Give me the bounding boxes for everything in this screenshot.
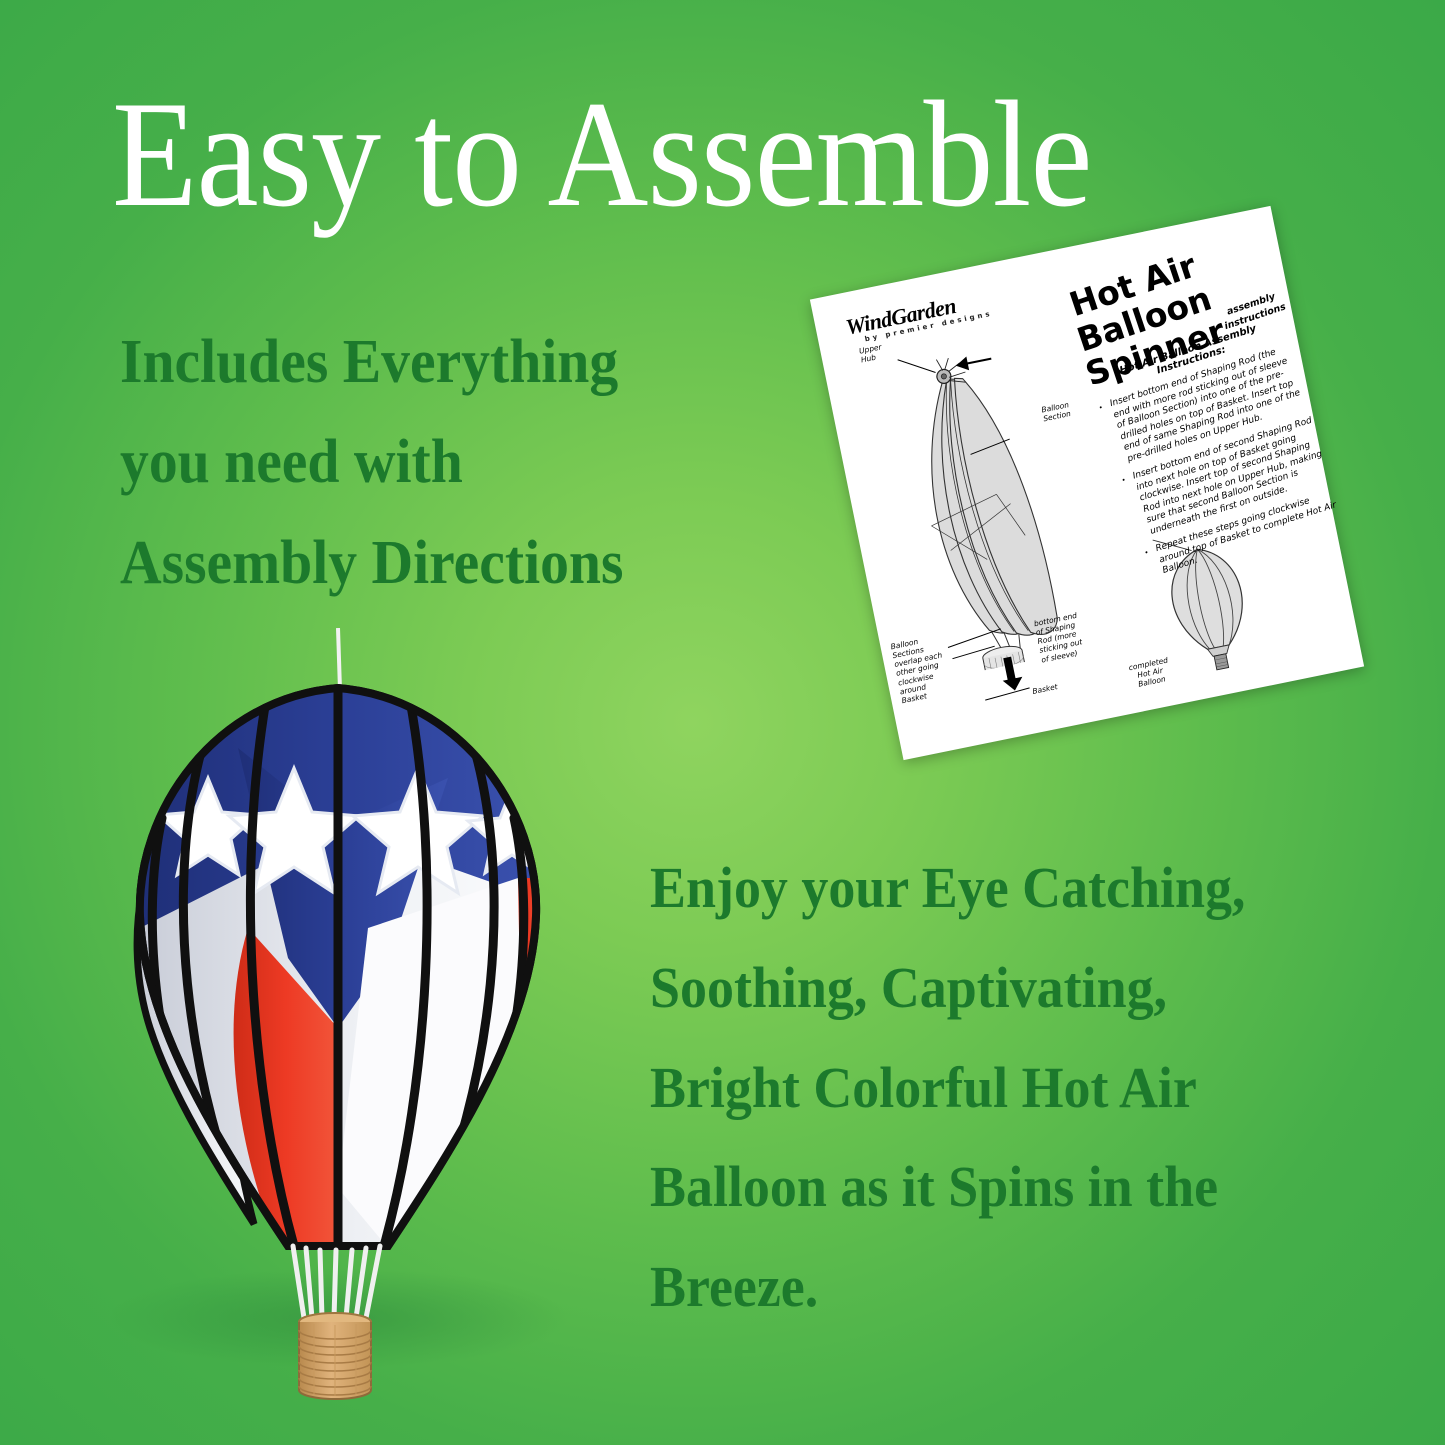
left-copy-line-3: Assembly Directions <box>120 513 715 613</box>
page-title: Easy to Assemble <box>112 78 1271 230</box>
left-copy-block: Includes Everything you need with Assemb… <box>120 312 715 613</box>
right-copy-line-3: Bright Colorful Hot Air <box>650 1038 1357 1138</box>
right-copy-line-1: Enjoy your Eye Catching, <box>650 838 1357 938</box>
right-copy-line-5: Breeze. <box>650 1237 1357 1337</box>
assembly-instruction-sheet: WindGarden by premier designs Hot Air Ba… <box>810 206 1364 760</box>
basket <box>299 1313 371 1399</box>
label-shaping-rod: bottom end of Shaping Rod (more sticking… <box>1033 611 1085 665</box>
poster-background: Easy to Assemble Includes Everything you… <box>0 0 1445 1445</box>
product-photo-balloon-spinner <box>88 628 588 1408</box>
white-wedge <box>338 878 538 1248</box>
left-copy-line-2: you need with <box>120 412 715 512</box>
right-copy-line-2: Soothing, Captivating, <box>650 938 1357 1038</box>
sheet-paper: WindGarden by premier designs Hot Air Ba… <box>810 206 1364 760</box>
label-basket: Basket <box>1032 682 1059 696</box>
right-copy-block: Enjoy your Eye Catching, Soothing, Capti… <box>650 838 1357 1337</box>
left-copy-line-1: Includes Everything <box>120 312 715 412</box>
right-copy-line-4: Balloon as it Spins in the <box>650 1137 1357 1237</box>
hanging-string <box>338 628 340 690</box>
balloon-canopy <box>137 688 556 1248</box>
